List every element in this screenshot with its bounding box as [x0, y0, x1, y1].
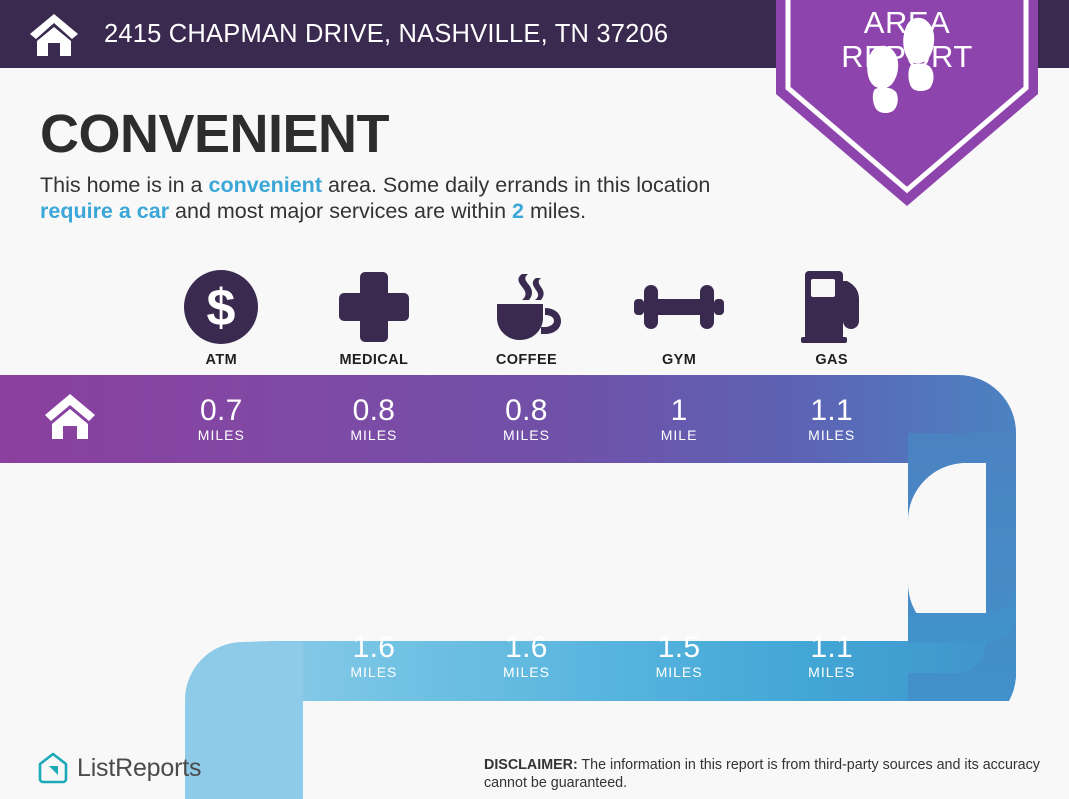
- disclaimer-label: DISCLAIMER:: [484, 757, 578, 773]
- page-subtitle: This home is in a convenient area. Some …: [40, 172, 770, 224]
- amenity-atm: $ ATM: [145, 264, 298, 368]
- svg-text:$: $: [207, 279, 236, 337]
- subtitle-highlight-1: convenient: [208, 173, 322, 197]
- amenity-gym: GYM: [603, 264, 756, 368]
- page-title: CONVENIENT: [40, 103, 389, 165]
- subtitle-highlight-3: 2: [512, 199, 524, 223]
- subtitle-part-3: and most major services are within: [169, 199, 512, 223]
- subtitle-part-1: This home is in a: [40, 173, 208, 197]
- dumbbell-icon: [634, 272, 724, 342]
- amenity-label: COFFEE: [496, 352, 557, 368]
- subtitle-part-4: miles.: [524, 199, 586, 223]
- amenity-coffee: COFFEE: [450, 264, 603, 368]
- listreports-logo-text: ListReports: [77, 754, 201, 783]
- amenity-medical: MEDICAL: [298, 264, 451, 368]
- listreports-logo-icon: [38, 752, 68, 784]
- amenity-icon-row-primary: $ ATM MEDICAL C: [145, 264, 908, 368]
- medical-cross-icon: [339, 272, 409, 342]
- amenity-gas: GAS: [755, 264, 908, 368]
- area-report-badge: AREA REPORT: [776, 0, 1038, 206]
- area-report-infographic: 2415 CHAPMAN DRIVE, NASHVILLE, TN 37206 …: [0, 0, 1069, 799]
- home-marker-icon: [44, 393, 96, 439]
- subtitle-highlight-2: require a car: [40, 199, 169, 223]
- amenity-label: GYM: [662, 352, 696, 368]
- house-icon: [28, 12, 80, 56]
- coffee-cup-icon: [489, 272, 563, 342]
- amenity-label: ATM: [206, 352, 238, 368]
- header-address: 2415 CHAPMAN DRIVE, NASHVILLE, TN 37206: [104, 20, 668, 49]
- disclaimer-text: DISCLAIMER: The information in this repo…: [484, 757, 1054, 792]
- distance-track: [0, 370, 1069, 799]
- amenity-label: MEDICAL: [339, 352, 408, 368]
- gas-pump-icon: [799, 272, 865, 342]
- dollar-circle-icon: $: [184, 272, 258, 342]
- amenity-label: GAS: [815, 352, 848, 368]
- subtitle-part-2: area. Some daily errands in this locatio…: [322, 173, 710, 197]
- listreports-logo: ListReports: [38, 752, 201, 784]
